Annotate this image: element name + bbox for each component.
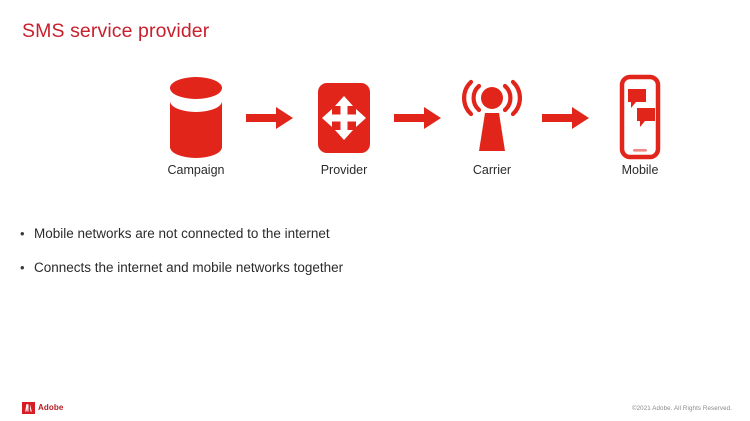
adobe-wordmark: Adobe — [38, 403, 63, 412]
bullet-text: Connects the internet and mobile network… — [34, 258, 343, 278]
mobile-phone-messages-icon — [594, 70, 686, 165]
broadcast-tower-icon — [446, 70, 538, 165]
right-arrow-icon — [390, 70, 446, 165]
list-item: • Connects the internet and mobile netwo… — [20, 258, 620, 278]
diagram-node-label: Provider — [321, 163, 368, 177]
diagram-node-campaign: Campaign — [150, 70, 242, 177]
page-title: SMS service provider — [22, 20, 209, 43]
diagram-node-label: Campaign — [168, 163, 225, 177]
bullet-marker-icon: • — [20, 224, 34, 244]
diagram-node-carrier: Carrier — [446, 70, 538, 177]
diagram-node-provider: Provider — [298, 70, 390, 177]
right-arrow-icon — [242, 70, 298, 165]
four-way-arrow-icon — [298, 70, 390, 165]
list-item: • Mobile networks are not connected to t… — [20, 224, 620, 244]
adobe-logo: Adobe — [22, 401, 63, 413]
diagram-node-label: Carrier — [473, 163, 511, 177]
copyright-notice: ©2021 Adobe. All Rights Reserved. — [632, 405, 732, 412]
database-cylinder-icon — [150, 70, 242, 165]
diagram-node-mobile: Mobile — [594, 70, 686, 177]
bullet-text: Mobile networks are not connected to the… — [34, 224, 330, 244]
sms-flow-diagram: Campaign Provider — [150, 70, 602, 188]
bullet-marker-icon: • — [20, 258, 34, 278]
right-arrow-icon — [538, 70, 594, 165]
adobe-a-mark-icon — [22, 401, 35, 413]
diagram-node-label: Mobile — [622, 163, 659, 177]
bullet-list: • Mobile networks are not connected to t… — [20, 224, 620, 292]
